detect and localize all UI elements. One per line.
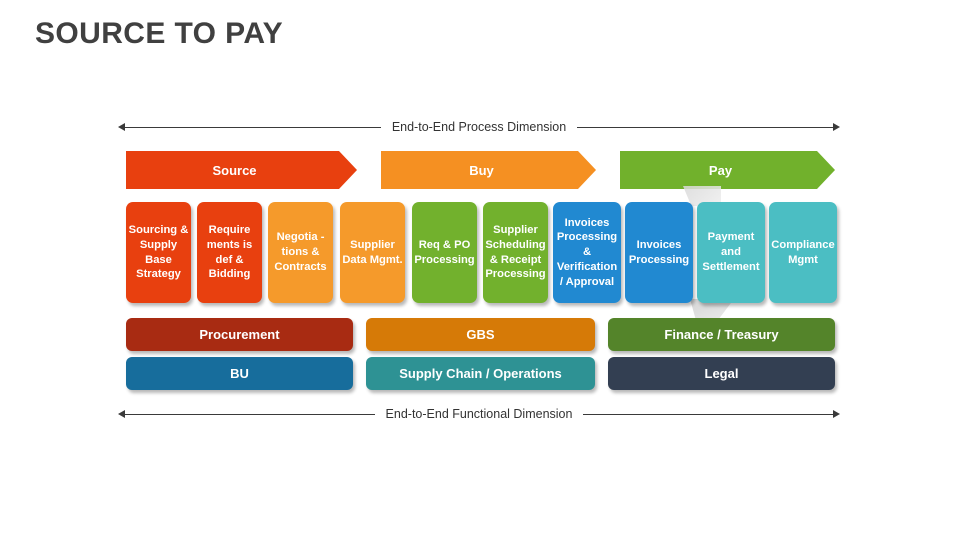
- process-card[interactable]: Invoices Processing & Verification / App…: [553, 202, 621, 303]
- process-card[interactable]: Negotia -tions & Contracts: [268, 202, 333, 303]
- functional-dimension-label: End-to-End Functional Dimension: [375, 408, 584, 421]
- process-dimension-label: End-to-End Process Dimension: [381, 121, 577, 134]
- phase-chevron-source[interactable]: Source: [126, 151, 357, 189]
- phase-chevron-pay[interactable]: Pay: [620, 151, 835, 189]
- phase-chevron-label: Source: [212, 163, 256, 178]
- process-card-label: Compliance Mgmt: [770, 238, 836, 268]
- process-card-label: Invoices Processing & Verification / App…: [554, 216, 620, 290]
- functional-bar-label: GBS: [466, 327, 494, 342]
- process-card-label: Payment and Settlement: [698, 230, 764, 274]
- axis-line-right-arrow: [577, 127, 833, 128]
- functional-bar-bu[interactable]: BU: [126, 357, 353, 390]
- process-card[interactable]: Payment and Settlement: [697, 202, 765, 303]
- process-dimension-axis: End-to-End Process Dimension: [118, 116, 840, 138]
- phase-chevron-label: Pay: [709, 163, 732, 178]
- functional-bar-supply-chain-operations[interactable]: Supply Chain / Operations: [366, 357, 595, 390]
- slide-canvas: SOURCE TO PAY End-to-End Process Dimensi…: [0, 0, 960, 540]
- functional-bar-finance-treasury[interactable]: Finance / Treasury: [608, 318, 835, 351]
- process-card[interactable]: Req & PO Processing: [412, 202, 477, 303]
- functional-bar-label: Supply Chain / Operations: [399, 366, 562, 381]
- functional-bar-label: Legal: [705, 366, 739, 381]
- functional-bar-label: Finance / Treasury: [664, 327, 778, 342]
- functional-bar-gbs[interactable]: GBS: [366, 318, 595, 351]
- axis-line-right-arrow: [583, 414, 833, 415]
- functional-bar-label: BU: [230, 366, 249, 381]
- process-card[interactable]: Compliance Mgmt: [769, 202, 837, 303]
- page-title: SOURCE TO PAY: [35, 17, 283, 51]
- process-card[interactable]: Invoices Processing: [625, 202, 693, 303]
- phase-chevron-row: Source Buy Pay: [0, 151, 960, 189]
- process-card-row: Sourcing & Supply Base Strategy Require …: [0, 202, 960, 303]
- axis-line-left-arrow: [125, 127, 381, 128]
- process-card-label: Invoices Processing: [626, 238, 692, 268]
- functional-bar-label: Procurement: [199, 327, 279, 342]
- process-card[interactable]: Supplier Data Mgmt.: [340, 202, 405, 303]
- process-card-label: Negotia -tions & Contracts: [269, 230, 332, 274]
- process-card-label: Supplier Scheduling & Receipt Processing: [484, 223, 547, 282]
- process-card-label: Sourcing & Supply Base Strategy: [127, 223, 190, 282]
- process-card[interactable]: Require ments is def & Bidding: [197, 202, 262, 303]
- functional-bar-procurement[interactable]: Procurement: [126, 318, 353, 351]
- process-card-label: Req & PO Processing: [413, 238, 476, 268]
- functional-dimension-axis: End-to-End Functional Dimension: [118, 403, 840, 425]
- functional-bar-row-secondary: BU Supply Chain / Operations Legal: [0, 357, 960, 390]
- process-card[interactable]: Supplier Scheduling & Receipt Processing: [483, 202, 548, 303]
- functional-bar-row-primary: Procurement GBS Finance / Treasury: [0, 318, 960, 351]
- phase-chevron-buy[interactable]: Buy: [381, 151, 596, 189]
- process-card[interactable]: Sourcing & Supply Base Strategy: [126, 202, 191, 303]
- process-card-label: Supplier Data Mgmt.: [341, 238, 404, 268]
- process-card-label: Require ments is def & Bidding: [198, 223, 261, 282]
- phase-chevron-label: Buy: [469, 163, 494, 178]
- axis-line-left-arrow: [125, 414, 375, 415]
- functional-bar-legal[interactable]: Legal: [608, 357, 835, 390]
